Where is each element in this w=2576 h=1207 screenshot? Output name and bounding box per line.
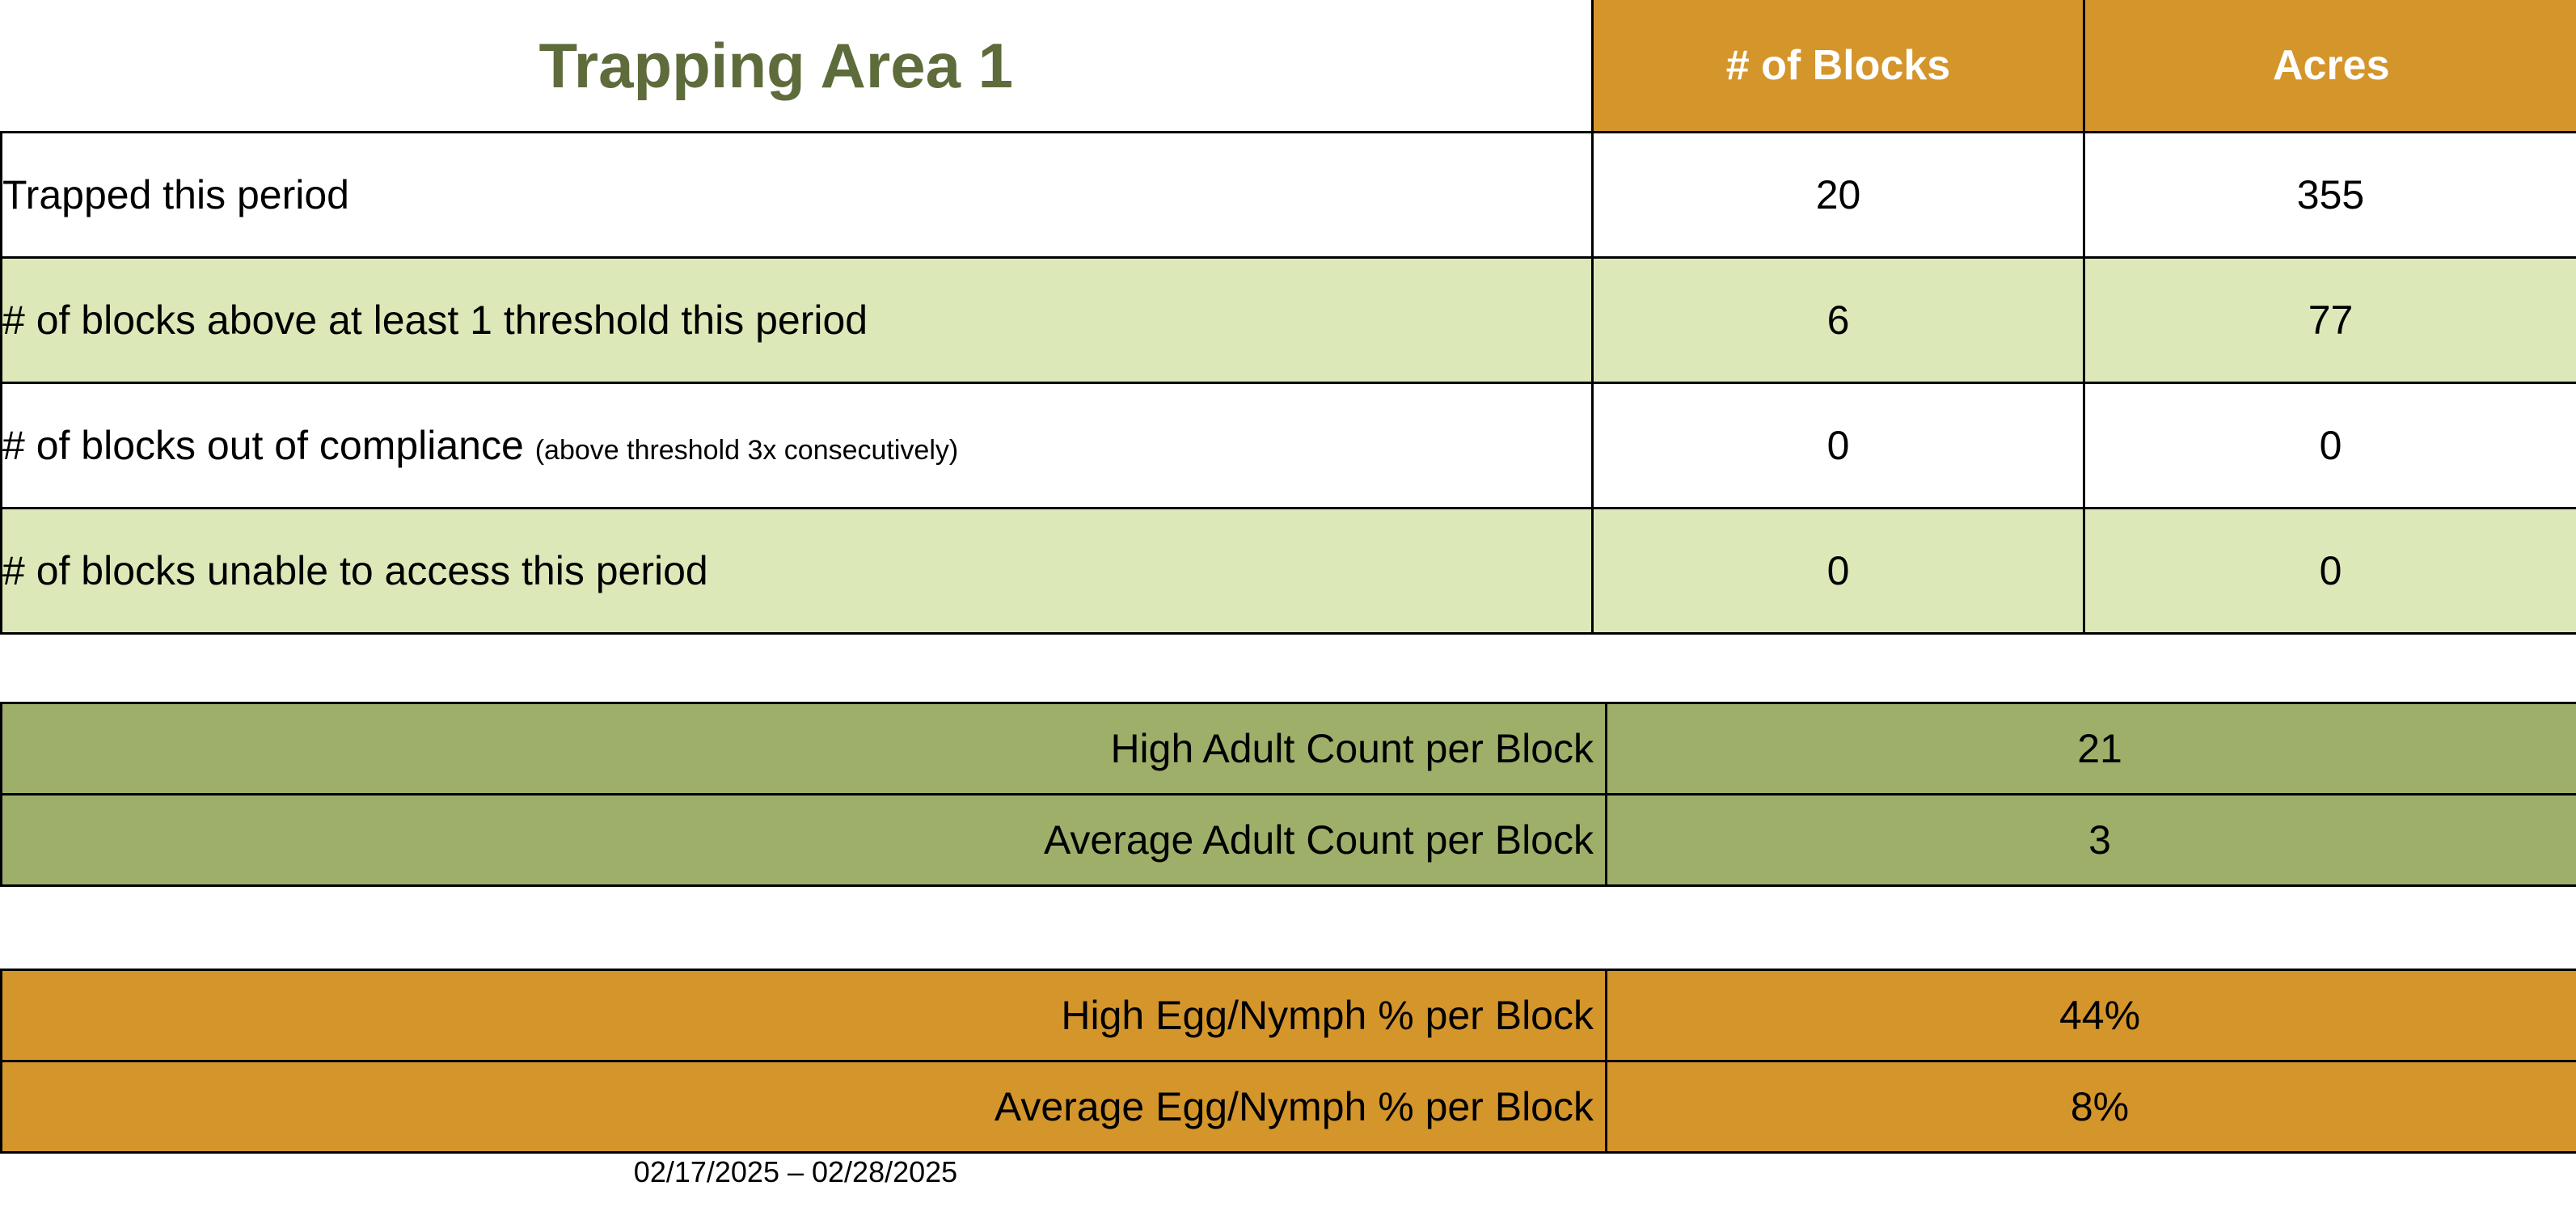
row-label-text: # of blocks unable to access this period — [2, 548, 708, 593]
row-label-above-threshold: # of blocks above at least 1 threshold t… — [2, 258, 1593, 383]
row-value-blocks: 20 — [1593, 133, 2084, 258]
table-row: High Adult Count per Block 21 — [2, 703, 2576, 795]
table-row: # of blocks above at least 1 threshold t… — [2, 258, 2576, 383]
row-value-blocks: 0 — [1593, 509, 2084, 634]
table-row: # of blocks out of compliance (above thr… — [2, 383, 2576, 509]
row-value-acres: 0 — [2084, 383, 2576, 509]
row-label-trapped: Trapped this period — [2, 133, 1593, 258]
column-header-acres: Acres — [2084, 0, 2576, 133]
summary-header-row: Trapping Area 1 # of Blocks Acres — [2, 0, 2576, 133]
stat-value-high-egg: 44% — [1607, 970, 2576, 1061]
row-label-unable-to-access: # of blocks unable to access this period — [2, 509, 1593, 634]
stat-label-high-egg: High Egg/Nymph % per Block — [2, 970, 1607, 1061]
row-value-acres: 355 — [2084, 133, 2576, 258]
row-label-text: Trapped this period — [2, 172, 349, 217]
summary-table: Trapping Area 1 # of Blocks Acres Trappe… — [0, 0, 2576, 635]
row-label-text: # of blocks out of compliance — [2, 423, 524, 468]
page-title-cell: Trapping Area 1 — [2, 0, 1593, 133]
adult-count-table: High Adult Count per Block 21 Average Ad… — [0, 702, 2576, 887]
stat-label-high-adult: High Adult Count per Block — [2, 703, 1607, 795]
table-row: # of blocks unable to access this period… — [2, 509, 2576, 634]
table-row: Trapped this period 20 355 — [2, 133, 2576, 258]
row-value-blocks: 0 — [1593, 383, 2084, 509]
date-range-footer: 02/17/2025 – 02/28/2025 — [0, 1154, 1591, 1189]
stat-label-average-adult: Average Adult Count per Block — [2, 795, 1607, 886]
egg-nymph-table: High Egg/Nymph % per Block 44% Average E… — [0, 969, 2576, 1154]
row-label-text: # of blocks above at least 1 threshold t… — [2, 298, 868, 343]
page-title: Trapping Area 1 — [2, 34, 1592, 97]
row-value-blocks: 6 — [1593, 258, 2084, 383]
row-value-acres: 0 — [2084, 509, 2576, 634]
row-label-out-of-compliance: # of blocks out of compliance (above thr… — [2, 383, 1593, 509]
stat-value-average-egg: 8% — [1607, 1061, 2576, 1153]
row-value-acres: 77 — [2084, 258, 2576, 383]
column-header-blocks: # of Blocks — [1593, 0, 2084, 133]
row-label-note: (above threshold 3x consecutively) — [535, 435, 959, 466]
stat-value-high-adult: 21 — [1607, 703, 2576, 795]
stat-label-average-egg: Average Egg/Nymph % per Block — [2, 1061, 1607, 1153]
table-row: High Egg/Nymph % per Block 44% — [2, 970, 2576, 1061]
report-page: Trapping Area 1 # of Blocks Acres Trappe… — [0, 0, 2576, 1207]
stat-value-average-adult: 3 — [1607, 795, 2576, 886]
table-row: Average Adult Count per Block 3 — [2, 795, 2576, 886]
table-row: Average Egg/Nymph % per Block 8% — [2, 1061, 2576, 1153]
